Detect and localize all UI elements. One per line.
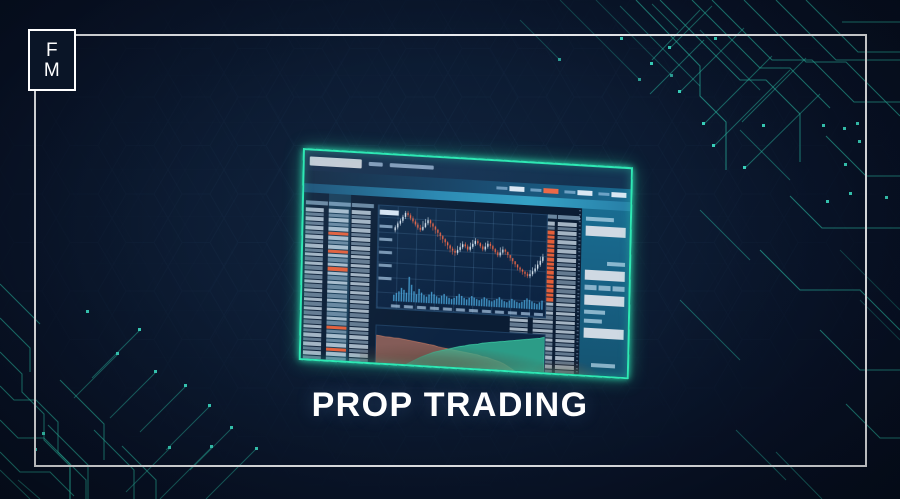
- candlestick-chart[interactable]: [376, 204, 548, 318]
- scrollbar-tick: [579, 210, 581, 211]
- order-buttons[interactable]: [585, 285, 625, 292]
- monitor-container: [297, 139, 627, 361]
- scrollbar-tick: [577, 300, 579, 301]
- scrollbar-tick: [579, 214, 581, 215]
- scrollbar-tick: [577, 296, 579, 297]
- nav-item-2[interactable]: [390, 163, 434, 170]
- scrollbar-tick: [578, 270, 580, 271]
- table-row[interactable]: [326, 356, 346, 361]
- quote-chip-2[interactable]: [530, 187, 558, 194]
- field-label: [584, 310, 605, 315]
- scrollbar-tick: [579, 225, 581, 226]
- logo-letter-m: M: [44, 61, 60, 80]
- quote-label: [598, 192, 609, 196]
- order-entry-panel[interactable]: [579, 208, 630, 377]
- scrollbar-tick: [576, 341, 578, 342]
- screen-content: [301, 150, 631, 377]
- scrollbar-tick: [576, 345, 578, 346]
- scrollbar-tick: [578, 281, 580, 282]
- order-field-3[interactable]: [584, 295, 624, 307]
- scrollbar-tick: [578, 263, 580, 264]
- platform-body: [301, 192, 630, 377]
- table-row[interactable]: [303, 355, 321, 359]
- scrollbar-tick: [577, 308, 579, 309]
- scrollbar-tick: [577, 304, 579, 305]
- scrollbar-tick: [578, 251, 580, 252]
- table-column-3: [349, 195, 374, 362]
- quote-chip-3[interactable]: [564, 189, 592, 196]
- scrollbar-tick: [577, 289, 579, 290]
- left-data-table[interactable]: [303, 192, 374, 362]
- quote-value-down: [543, 188, 558, 194]
- quote-label: [564, 190, 575, 194]
- table-column-1: [303, 192, 328, 359]
- quote-chip-1[interactable]: [496, 185, 524, 192]
- order-field-1[interactable]: [586, 226, 626, 238]
- scrollbar-tick: [578, 278, 580, 279]
- scrollbar-tick: [578, 248, 580, 249]
- y-axis-labels: [378, 210, 398, 281]
- column-header: [306, 200, 328, 206]
- scrollbar-tick: [578, 259, 580, 260]
- scrollbar-tick: [577, 319, 579, 320]
- quote-label: [530, 188, 541, 192]
- scrollbar-tick: [577, 315, 579, 316]
- logo-letter-f: F: [46, 41, 58, 60]
- column-header: [352, 203, 374, 209]
- scrollbar-tick: [576, 356, 578, 357]
- scrollbar-tick: [576, 353, 578, 354]
- order-field-4[interactable]: [584, 328, 624, 340]
- scrollbar-tick: [577, 326, 579, 327]
- quote-value: [577, 190, 592, 196]
- scrollbar-tick: [578, 266, 580, 267]
- field-label: [586, 217, 614, 223]
- page-title: PROP TRADING: [0, 386, 900, 425]
- scrollbar-tick: [577, 330, 579, 331]
- candlestick-series: [377, 206, 547, 316]
- scrollbar-tick: [578, 240, 580, 241]
- quote-label: [496, 186, 507, 190]
- fm-logo: F M: [28, 29, 76, 91]
- scrollbar-tick: [576, 349, 578, 350]
- scrollbar-tick: [577, 334, 579, 335]
- quote-chip-4[interactable]: [598, 191, 626, 198]
- quote-value: [611, 192, 626, 198]
- scrollbar-tick: [578, 274, 580, 275]
- search-input[interactable]: [310, 156, 362, 168]
- scrollbar-tick: [577, 323, 579, 324]
- nav-item-1[interactable]: [369, 162, 383, 167]
- scrollbar-tick: [578, 244, 580, 245]
- column-header: [558, 215, 580, 221]
- field-label: [607, 262, 625, 267]
- scrollbar-tick: [577, 293, 579, 294]
- scrollbar-tick: [577, 311, 579, 312]
- poster-canvas: F M: [0, 0, 900, 499]
- scrollbar-tick: [578, 255, 580, 256]
- column-header: [329, 202, 351, 208]
- scrollbar-tick: [579, 233, 581, 234]
- scrollbar-tick: [579, 236, 581, 237]
- field-label: [584, 319, 602, 324]
- scrollbar-tick: [579, 221, 581, 222]
- scrollbar-tick: [577, 338, 579, 339]
- table-column-2: [326, 194, 351, 361]
- order-field-2[interactable]: [585, 270, 625, 282]
- scrollbar-tick: [578, 285, 580, 286]
- quote-value: [509, 186, 524, 192]
- scrollbar-tick: [579, 218, 581, 219]
- trading-platform-screenshot[interactable]: [299, 148, 633, 379]
- scrollbar-tick: [579, 229, 581, 230]
